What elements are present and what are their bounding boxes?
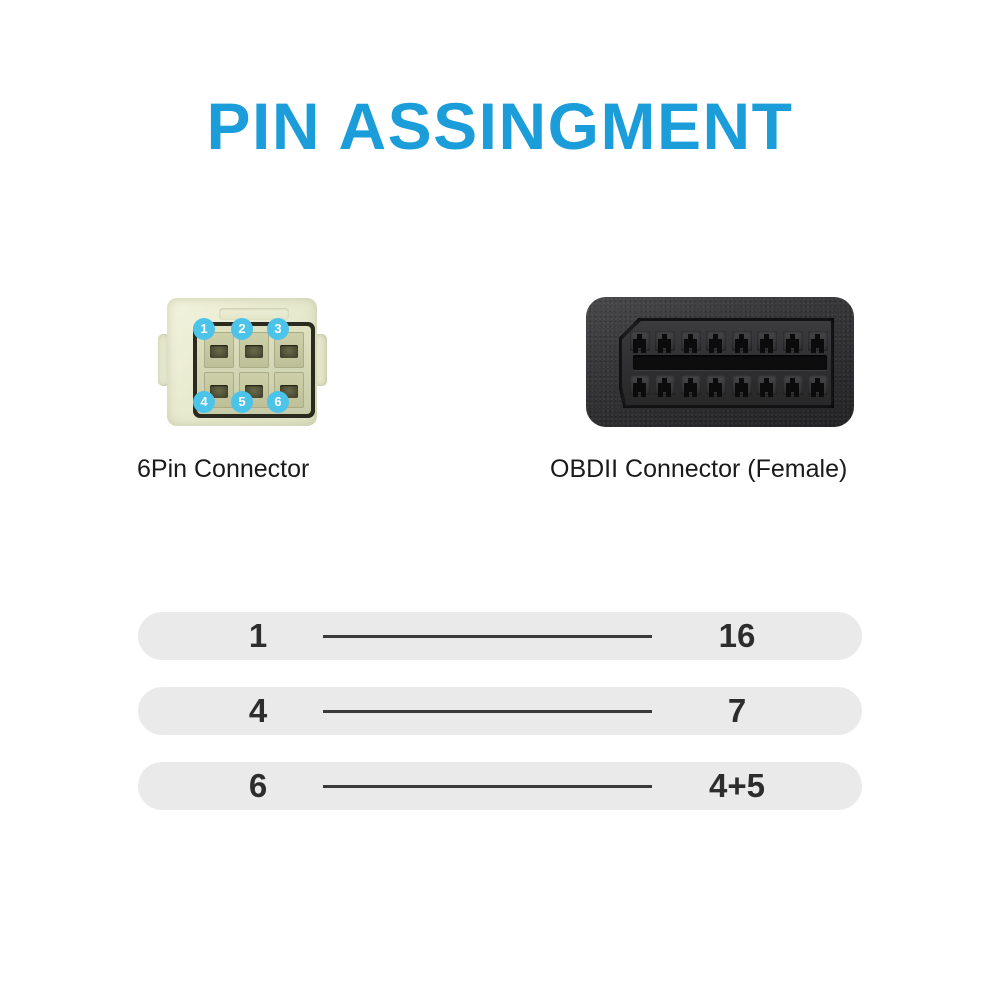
obdii-pin: [757, 331, 777, 351]
mapping-target-pin: 16: [682, 612, 792, 660]
obdii-pin: [706, 375, 726, 395]
obdii-pin: [706, 331, 726, 351]
mapping-source-pin: 1: [223, 612, 293, 660]
obdii-pin: [808, 375, 828, 395]
pin-mapping-row: 6 4+5: [138, 762, 862, 810]
mapping-connector-line: [323, 635, 652, 638]
pin-mapping-row: 1 16: [138, 612, 862, 660]
obdii-pin: [732, 331, 752, 351]
pin-badge-6: 6: [267, 391, 289, 413]
obdii-pin: [655, 375, 675, 395]
obdii-pin: [757, 375, 777, 395]
obdii-pin: [630, 375, 650, 395]
obdii-pin: [630, 331, 650, 351]
mapping-connector-line: [323, 710, 652, 713]
obdii-connector-image: [586, 297, 854, 427]
obdii-pin-row-top: [630, 331, 828, 351]
obdii-pin: [808, 331, 828, 351]
obdii-pin: [783, 375, 803, 395]
obdii-center-slot: [633, 355, 827, 370]
pin-badge-1: 1: [193, 318, 215, 340]
obdii-pin: [681, 375, 701, 395]
mapping-source-pin: 4: [223, 687, 293, 735]
obdii-pin-row-bottom: [630, 375, 828, 395]
mapping-connector-line: [323, 785, 652, 788]
obdii-pin: [681, 331, 701, 351]
pin-badge-4: 4: [193, 391, 215, 413]
obdii-pin: [732, 375, 752, 395]
pin-badge-3: 3: [267, 318, 289, 340]
obdii-connector-caption: OBDII Connector (Female): [550, 455, 847, 484]
six-pin-connector-caption: 6Pin Connector: [137, 455, 309, 484]
page-title: PIN ASSINGMENT: [0, 88, 1000, 164]
pin-mapping-row: 4 7: [138, 687, 862, 735]
pin-badge-2: 2: [231, 318, 253, 340]
mapping-source-pin: 6: [223, 762, 293, 810]
pin-badge-5: 5: [231, 391, 253, 413]
mapping-target-pin: 4+5: [682, 762, 792, 810]
obdii-pin: [783, 331, 803, 351]
mapping-target-pin: 7: [682, 687, 792, 735]
pin-mapping-list: 1 16 4 7 6 4+5: [0, 612, 1000, 837]
six-pin-connector-image: 1 2 3 4 5 6: [155, 290, 340, 435]
obdii-pin: [655, 331, 675, 351]
